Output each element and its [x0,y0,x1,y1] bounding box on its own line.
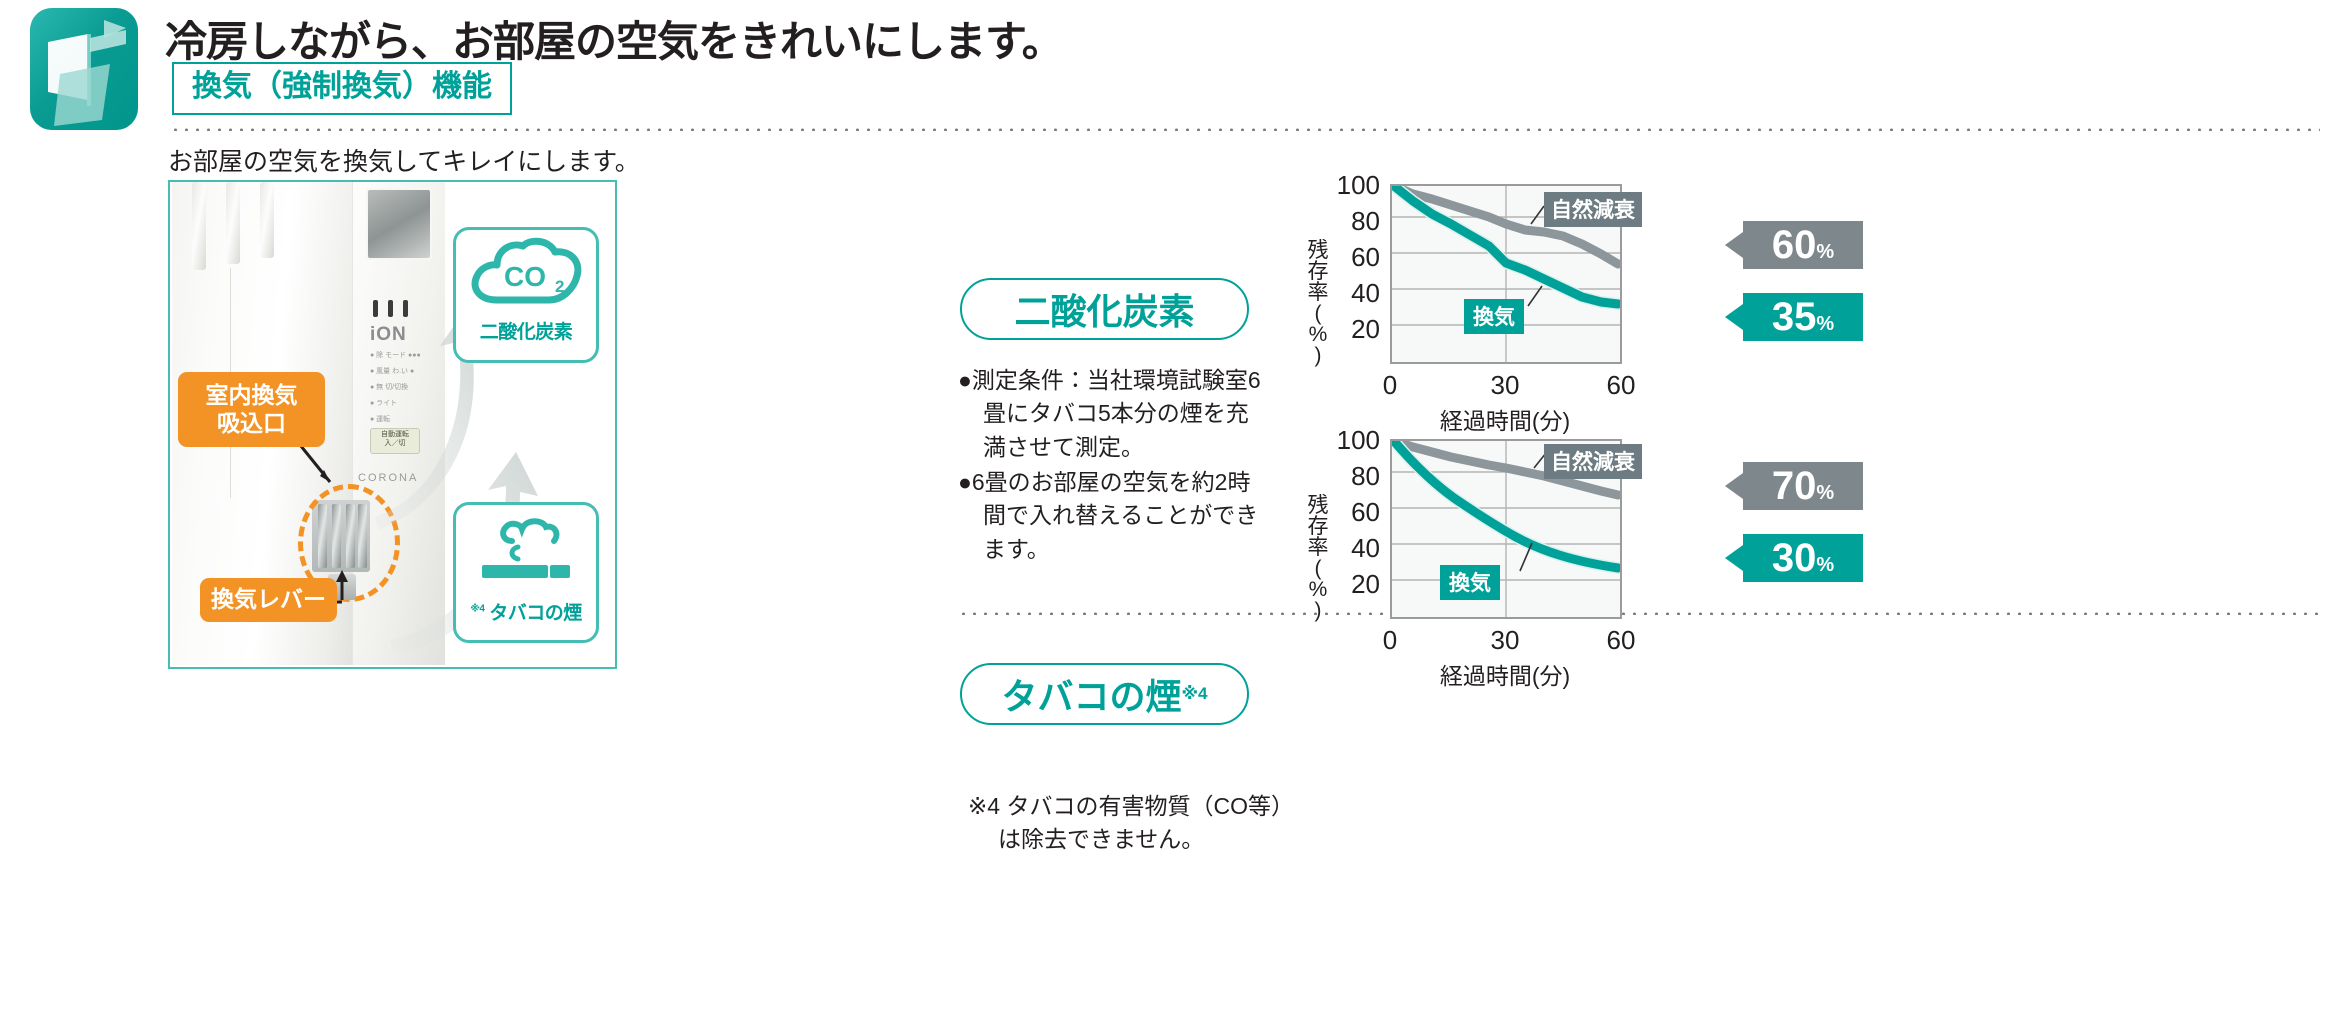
xtick-0: 0 [1360,625,1420,656]
smoke-note: ※4 タバコの有害物質（CO等）は除去できません。 [968,790,1298,857]
badge-co2-vent-unit: % [1816,300,1834,348]
smoke-box-caption-text: タバコの煙 [489,603,582,624]
chart-smoke-plot-area: 自然減衰 換気 [1390,439,1622,619]
badge-arrow-natural [1725,232,1743,258]
ylabel-char: ( [1306,558,1330,579]
ylabel-char: 存 [1306,516,1330,537]
ytick-60: 60 [1328,497,1380,528]
badge-arrow-natural [1725,473,1743,499]
co2-icon-box: CO 2 二酸化炭素 [453,227,599,363]
ytick-40: 40 [1328,533,1380,564]
pill-carbon-dioxide: 二酸化炭素 [960,278,1249,340]
svg-text:2: 2 [555,277,564,296]
divider-top [170,128,2320,131]
xtick-60: 60 [1591,625,1651,656]
label-intake-line1: 室内換気 [206,382,298,408]
xtick-60: 60 [1591,370,1651,401]
pill-tobacco-smoke: タバコの煙※4 [960,663,1249,725]
pill-co2-label: 二酸化炭素 [1014,283,1194,335]
chart-co2-label-vent: 換気 [1464,299,1524,334]
chart-smoke-label-natural: 自然減衰 [1544,444,1642,479]
ylabel-char: 残 [1306,240,1330,261]
chart-smoke-label-vent: 換気 [1440,565,1500,600]
co2-note-2: ●6畳のお部屋の空気を約2時間で入れ替えることができます。 [958,466,1268,566]
ytick-60: 60 [1328,242,1380,273]
chart-co2-plot-area: 自然減衰 換気 [1390,184,1622,364]
label-indoor-intake: 室内換気 吸込口 [178,372,325,447]
label-intake-line2: 吸込口 [217,410,286,436]
badge-smoke-vent-unit: % [1816,541,1834,589]
ytick-40: 40 [1328,278,1380,309]
ytick-20: 20 [1328,314,1380,345]
ylabel-char: 残 [1306,495,1330,516]
co2-box-caption: 二酸化炭素 [456,317,596,344]
lead-text: お部屋の空気を換気してキレイにします。 [168,142,640,178]
smoke-icon-box: ※4 タバコの煙 [453,502,599,643]
badge-smoke-natural-value: 70 [1772,462,1817,510]
feature-badge: 換気（強制換気）機能 [172,62,512,115]
ylabel-char: % [1306,324,1330,345]
badge-arrow-vent [1725,545,1743,571]
badge-smoke-vent-value: 30 [1772,534,1817,582]
co2-notes: ●測定条件：当社環境試験室6畳にタバコ5本分の煙を充満させて測定。 ●6畳のお部… [958,364,1268,568]
chart-smoke: 残 存 率 ( % ) 100 80 60 40 20 自然減衰 換気 0 30… [1300,425,1730,825]
chart-co2-label-natural: 自然減衰 [1544,192,1642,227]
svg-text:CO: CO [504,261,546,292]
ylabel-char: 率 [1306,282,1330,303]
ylabel-char: 存 [1306,261,1330,282]
ytick-80: 80 [1328,461,1380,492]
smoke-box-note: ※4 [470,604,484,615]
xtick-0: 0 [1360,370,1420,401]
badge-co2-vent: 35% [1743,293,1863,341]
ytick-80: 80 [1328,206,1380,237]
co2-note-1: ●測定条件：当社環境試験室6畳にタバコ5本分の煙を充満させて測定。 [958,364,1268,464]
product-photo-panel: iON ● 除 モード ●●● ● 風量 わ.い ● ● 無 切/切換 ● ライ… [168,180,617,669]
xtick-30: 30 [1475,370,1535,401]
pill-smoke-label: タバコの煙 [1002,668,1182,720]
ventilation-window-icon [30,8,138,130]
ylabel-char: % [1306,579,1330,600]
badge-smoke-natural: 70% [1743,462,1863,510]
badge-smoke-natural-unit: % [1816,469,1834,517]
label-ventilation-lever: 換気レバー [200,578,337,622]
co2-cloud-icon: CO 2 [467,236,585,310]
badge-co2-vent-value: 35 [1772,293,1817,341]
chart-smoke-xlabel: 経過時間(分) [1375,657,1635,691]
badge-co2-natural-value: 60 [1772,221,1817,269]
xtick-30: 30 [1475,625,1535,656]
ytick-20: 20 [1328,569,1380,600]
badge-co2-natural: 60% [1743,221,1863,269]
badge-arrow-vent [1725,304,1743,330]
smoke-box-caption: ※4 タバコの煙 [456,598,596,625]
ytick-100: 100 [1328,425,1380,456]
ylabel-char: ) [1306,600,1330,621]
ylabel-char: 率 [1306,537,1330,558]
chart-co2-ylabel: 残 存 率 ( % ) [1306,240,1330,366]
badge-smoke-vent: 30% [1743,534,1863,582]
page-title: 冷房しながら、お部屋の空気をきれいにします。 [165,8,1063,69]
badge-co2-natural-unit: % [1816,228,1834,276]
cigarette-smoke-icon [466,511,586,591]
chart-smoke-ylabel: 残 存 率 ( % ) [1306,495,1330,621]
ytick-100: 100 [1328,170,1380,201]
ylabel-char: ) [1306,345,1330,366]
pill-smoke-note: ※4 [1182,684,1208,704]
ylabel-char: ( [1306,303,1330,324]
